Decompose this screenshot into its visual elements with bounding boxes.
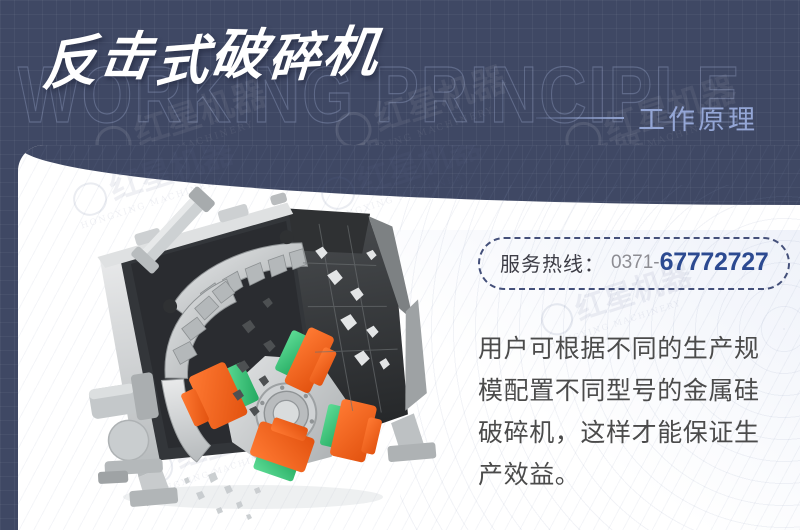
hotline-badge[interactable]: 服务热线： 0371- 67772727: [478, 237, 790, 290]
promo-banner: WORKING PRINCIPLE 红星机器 HONGXING MACHINER…: [0, 0, 800, 530]
subtitle-group: 工作原理: [536, 98, 758, 137]
hotline-number[interactable]: 67772727: [660, 248, 769, 277]
subtitle-label: 工作原理: [638, 98, 758, 137]
title-char: 机: [320, 26, 385, 80]
impact-crusher-illustration: [58, 175, 468, 525]
subtitle-divider: [536, 117, 624, 119]
page-title: 反击式破碎机: [41, 27, 383, 88]
hotline-label: 服务热线：: [500, 248, 605, 277]
title-char: 击: [97, 31, 160, 83]
title-char: 反: [41, 34, 102, 95]
info-column: 服务热线： 0371- 67772727 用户可根据不同的生产规模配置不同型号的…: [478, 237, 788, 496]
title-char: 碎: [266, 31, 325, 86]
description-paragraph: 用户可根据不同的生产规模配置不同型号的金属硅破碎机，这样才能保证生产效益。: [478, 328, 778, 496]
hotline-area-code: 0371-: [611, 252, 660, 274]
content-card: 红星机器 HONGXING MACHINERY 红星机器 HONGXING MA…: [18, 145, 800, 530]
title-char: 式: [154, 34, 214, 91]
title-char: 破: [207, 27, 274, 83]
